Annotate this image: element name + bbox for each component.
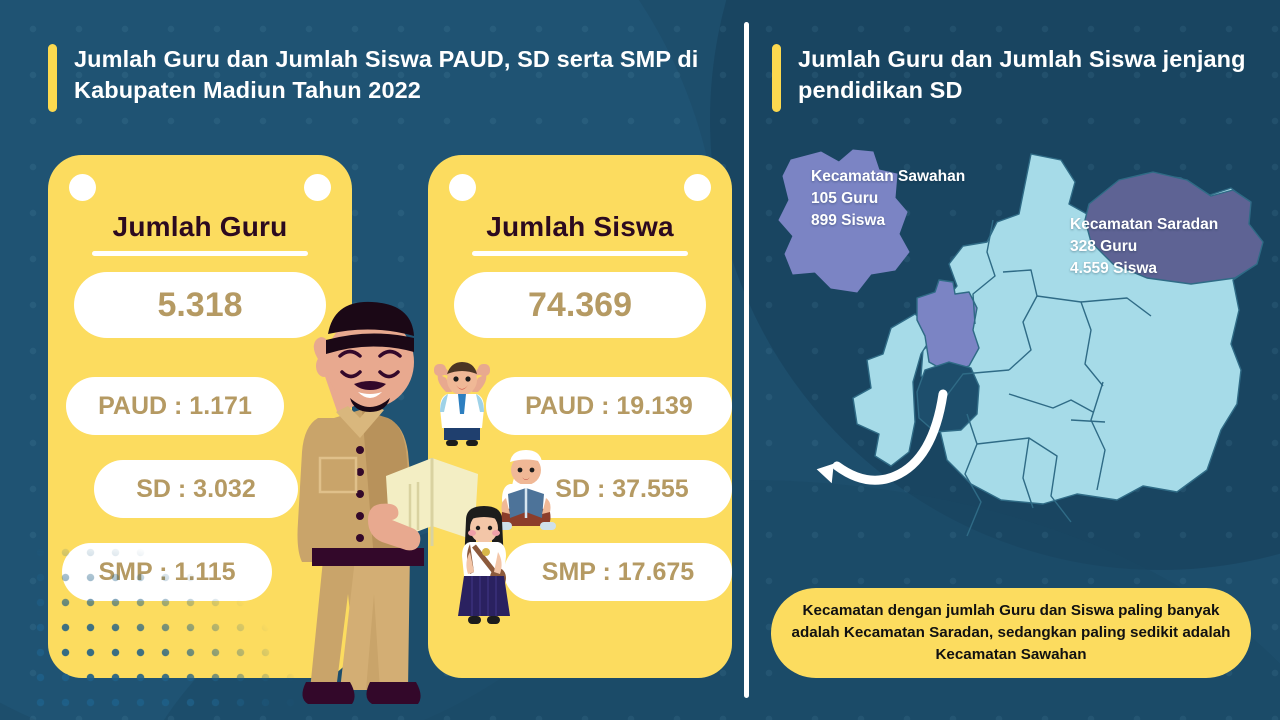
right-header: Jumlah Guru dan Jumlah Siswa jenjang pen… [772,44,1248,112]
left-header: Jumlah Guru dan Jumlah Siswa PAUD, SD se… [48,44,714,112]
card-hole-left-icon [69,174,96,201]
map-label-name: Kecamatan Saradan [1070,214,1218,236]
page-title: Jumlah Guru dan Jumlah Siswa PAUD, SD se… [74,44,714,112]
map-label-guru: 105 Guru [811,188,965,210]
card-row-paud: PAUD : 19.139 [486,377,732,435]
card-title: Jumlah Guru [48,211,352,243]
card-hole-right-icon [304,174,331,201]
card-title-rule [472,251,688,256]
title-accent-bar [48,44,57,112]
title-accent-bar [772,44,781,112]
map-label-sawahan: Kecamatan Sawahan 105 Guru 899 Siswa [811,166,965,232]
map-container: Kecamatan Sawahan 105 Guru 899 Siswa Kec… [745,132,1280,582]
card-row-paud: PAUD : 1.171 [66,377,284,435]
student-girl-icon [448,504,520,630]
card-row-smp: SMP : 17.675 [504,543,732,601]
card-total-value: 74.369 [454,272,706,338]
card-hole-left-icon [449,174,476,201]
card-title: Jumlah Siswa [428,211,732,243]
card-row-smp: SMP : 1.115 [62,543,272,601]
student-boy-icon [428,358,496,450]
card-hole-right-icon [684,174,711,201]
map-label-siswa: 899 Siswa [811,210,965,232]
map-label-saradan: Kecamatan Saradan 328 Guru 4.559 Siswa [1070,214,1218,280]
summary-note-text: Kecamatan dengan jumlah Guru dan Siswa p… [791,600,1231,666]
map-label-guru: 328 Guru [1070,236,1218,258]
left-panel: Jumlah Guru dan Jumlah Siswa PAUD, SD se… [0,0,745,720]
card-title-rule [92,251,308,256]
right-panel: Jumlah Guru dan Jumlah Siswa jenjang pen… [745,0,1280,720]
map-section-title: Jumlah Guru dan Jumlah Siswa jenjang pen… [798,44,1248,112]
summary-note-box: Kecamatan dengan jumlah Guru dan Siswa p… [771,588,1251,678]
map-label-siswa: 4.559 Siswa [1070,258,1218,280]
map-label-name: Kecamatan Sawahan [811,166,965,188]
